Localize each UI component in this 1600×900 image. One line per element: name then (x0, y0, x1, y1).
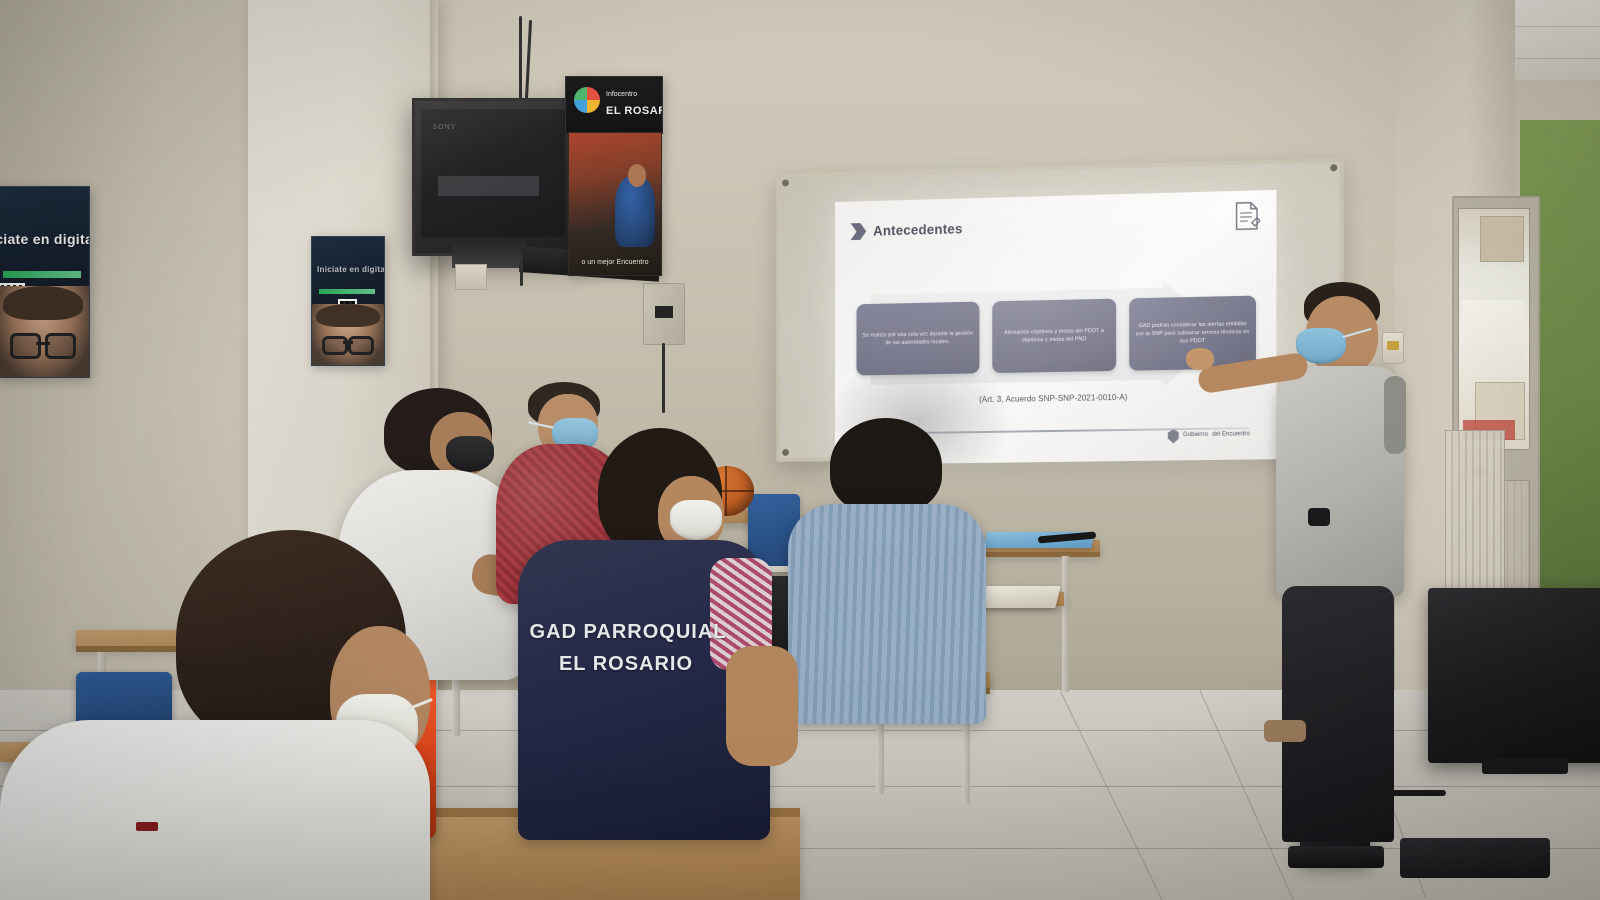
infocentro-brand: Infocentro (606, 91, 637, 98)
wall-outlet-plate[interactable] (455, 264, 487, 290)
portrait-hair (316, 304, 379, 327)
glasses-icon (322, 336, 374, 350)
presenter-hand (1186, 348, 1214, 370)
sensor-cable (662, 343, 665, 413)
slide-box-2-text: Alineación objetivos y metas del PDOT a … (998, 327, 1111, 345)
poster-photo-head (628, 164, 646, 187)
attendee-black-mask (446, 436, 494, 472)
classroom-photo: SONY íciate en digital Inicíate en digit… (0, 0, 1600, 900)
gobierno-logo-line1: Gobierno (1183, 432, 1208, 440)
presenter (1250, 282, 1420, 862)
presenter-trousers (1282, 586, 1394, 842)
attendee-torso (0, 720, 430, 900)
tv-glare (438, 176, 539, 196)
poster-iniciate-en-digital-mid: Inicíate en digital (311, 236, 385, 366)
computer-monitor-icon (1428, 588, 1600, 763)
slide-box-3-text: GAD podrán considerar las alertas emitid… (1136, 320, 1250, 347)
chevron-right-icon (851, 223, 867, 240)
attendee-front-white-shirt (0, 530, 470, 900)
poster-left-portrait (0, 286, 89, 377)
door-notice-paper-1 (1480, 216, 1524, 262)
tv-brand-label: SONY (433, 124, 457, 131)
portrait-hair (3, 286, 84, 321)
presenter-collar (1384, 376, 1406, 454)
poster-photo-encuentro: o un mejor Encuentro (568, 132, 662, 276)
slide-box-1-text: Se realiza por una sola vez durante la g… (862, 330, 973, 348)
poster-left-accent-bar (3, 271, 81, 278)
desk-leg (1062, 556, 1069, 692)
gobierno-logo: Gobierno del Encuentro (1168, 428, 1250, 443)
infocentro-location: EL ROSARIO (606, 105, 663, 117)
vest-text-line2: EL ROSARIO (476, 652, 776, 677)
poster-photo-caption: o un mejor Encuentro (569, 259, 661, 266)
poster-left-headline: íciate en digital (0, 231, 90, 247)
slide-box-1: Se realiza por una sola vez durante la g… (856, 302, 979, 376)
vest-text-line1: GAD PARROQUIAL (478, 620, 778, 645)
shirt-brand-tag (136, 822, 158, 831)
attendee-hair (830, 418, 942, 514)
glasses-icon (10, 333, 76, 353)
gobierno-logo-line2: del Encuentro (1212, 432, 1250, 440)
attendee-torso (788, 504, 986, 724)
tv-power-cable (520, 252, 523, 286)
wall-radiator (1445, 430, 1505, 602)
wall-sensor-icon (643, 283, 685, 345)
keyboard-icon[interactable] (1400, 838, 1550, 878)
slide-title-group: Antecedentes (851, 220, 963, 240)
slide-title: Antecedentes (873, 221, 962, 238)
attendee-blue-striped (788, 418, 998, 718)
poster-infocentro-el-rosario: Infocentro EL ROSARIO (565, 76, 663, 134)
infocentro-logo-icon (574, 87, 600, 113)
document-pencil-icon (1234, 200, 1261, 231)
ceiling-cable (519, 16, 522, 102)
attendee-gad-vest: GAD PARROQUIAL EL ROSARIO (512, 428, 812, 848)
attendee-white-mask (670, 500, 722, 540)
poster-iniciate-en-digital-left: íciate en digital (0, 186, 90, 378)
wall-mounted-tv: SONY (412, 98, 574, 256)
poster-mid-portrait (312, 304, 384, 365)
poster-mid-accent-bar (319, 289, 375, 294)
monitor-stand (1482, 758, 1568, 774)
tv-screen: SONY (421, 109, 565, 237)
poster-mid-headline: Inicíate en digital (317, 265, 385, 274)
presenter-watch (1308, 508, 1330, 526)
ecuador-coat-of-arms-icon (1168, 429, 1179, 443)
presenter-hand-lower (1264, 720, 1306, 742)
slide-box-2: Alineación objetivos y metas del PDOT a … (992, 299, 1116, 373)
